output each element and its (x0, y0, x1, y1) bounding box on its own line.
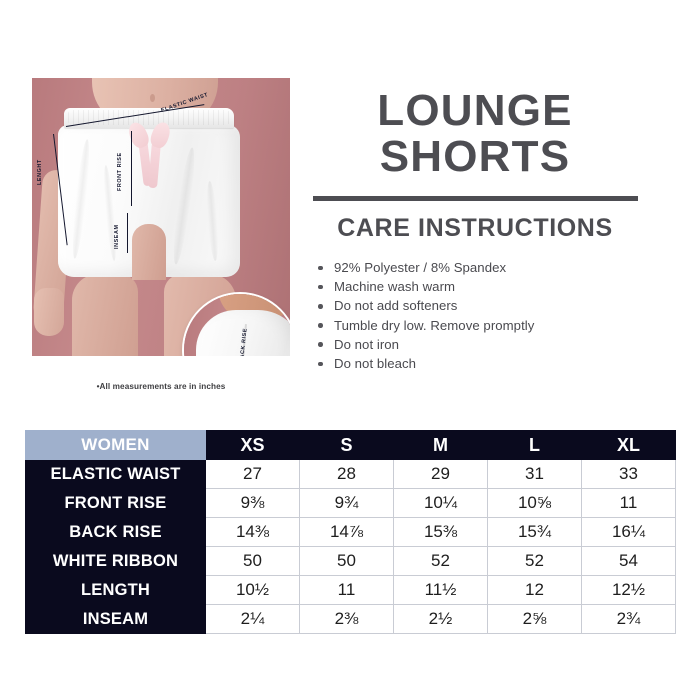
front-rise-measure-line (131, 131, 132, 206)
cell-value: 2¼ (206, 605, 300, 634)
cell-value: 15¾ (488, 518, 582, 547)
cell-value: 11½ (394, 576, 488, 605)
table-corner-label: WOMEN (26, 431, 206, 460)
product-photo: ELASTIC WAIST LENGHT FRONT RISE INSEAM B… (32, 78, 290, 356)
row-label-white-ribbon: WHITE RIBBON (26, 547, 206, 576)
drawstring-bow (130, 122, 174, 184)
cell-value: 52 (488, 547, 582, 576)
label-length: LENGHT (37, 159, 43, 185)
cell-value: 2⅝ (488, 605, 582, 634)
list-item: Machine wash warm (316, 277, 656, 296)
bullet-icon (318, 285, 323, 290)
shorts-garment (58, 108, 240, 283)
care-item-text: Do not add softeners (334, 298, 457, 313)
table-row: BACK RISE 14⅜ 14⅞ 15⅜ 15¾ 16¼ (26, 518, 676, 547)
product-title: LOUNGE SHORTS (310, 88, 640, 180)
label-front-rise: FRONT RISE (117, 152, 123, 191)
column-header-l: L (488, 431, 582, 460)
model-navel (150, 94, 155, 102)
row-label-elastic-waist: ELASTIC WAIST (26, 460, 206, 489)
fabric-fold (70, 139, 92, 259)
bullet-icon (318, 342, 323, 347)
cell-value: 12 (488, 576, 582, 605)
cell-value: 28 (300, 460, 394, 489)
inseam-measure-line (127, 213, 128, 253)
bullet-icon (318, 362, 323, 367)
list-item: Tumble dry low. Remove promptly (316, 316, 656, 335)
cell-value: 16¼ (582, 518, 676, 547)
row-label-length: LENGTH (26, 576, 206, 605)
bullet-icon (318, 304, 323, 309)
cell-value: 52 (394, 547, 488, 576)
title-line-1: LOUNGE (310, 88, 640, 134)
bow-loop (148, 120, 173, 150)
cell-value: 12½ (582, 576, 676, 605)
cell-value: 10½ (206, 576, 300, 605)
care-item-text: Tumble dry low. Remove promptly (334, 318, 534, 333)
measurements-footnote: •All measurements are in inches (32, 382, 290, 391)
table-row: WHITE RIBBON 50 50 52 52 54 (26, 547, 676, 576)
info-panel: ELASTIC WAIST LENGHT FRONT RISE INSEAM B… (0, 0, 700, 410)
row-label-front-rise: FRONT RISE (26, 489, 206, 518)
care-item-text: 92% Polyester / 8% Spandex (334, 260, 506, 275)
column-header-xs: XS (206, 431, 300, 460)
cell-value: 14⅜ (206, 518, 300, 547)
cell-value: 14⅞ (300, 518, 394, 547)
cell-value: 50 (206, 547, 300, 576)
table-header-row: WOMEN XS S M L XL (26, 431, 676, 460)
table-row: ELASTIC WAIST 27 28 29 31 33 (26, 460, 676, 489)
column-header-s: S (300, 431, 394, 460)
column-header-m: M (394, 431, 488, 460)
label-inseam: INSEAM (114, 224, 120, 249)
title-line-2: SHORTS (310, 134, 640, 180)
drawstring-tail (148, 142, 161, 189)
care-item-text: Do not iron (334, 337, 399, 352)
cell-value: 11 (582, 489, 676, 518)
fabric-fold (170, 147, 198, 266)
cell-value: 54 (582, 547, 676, 576)
cell-value: 33 (582, 460, 676, 489)
crotch-gap (132, 224, 166, 280)
model-hand (34, 288, 64, 336)
table-row: LENGTH 10½ 11 11½ 12 12½ (26, 576, 676, 605)
bullet-icon (318, 323, 323, 328)
care-item-text: Machine wash warm (334, 279, 455, 294)
cell-value: 10⅝ (488, 489, 582, 518)
cell-value: 50 (300, 547, 394, 576)
column-header-xl: XL (582, 431, 676, 460)
row-label-inseam: INSEAM (26, 605, 206, 634)
cell-value: 2¾ (582, 605, 676, 634)
care-instructions-heading: CARE INSTRUCTIONS (310, 214, 640, 243)
back-view-inset: BACK RISE (184, 294, 290, 356)
cell-value: 9⅜ (206, 489, 300, 518)
cell-value: 11 (300, 576, 394, 605)
cell-value: 10¼ (394, 489, 488, 518)
list-item: 92% Polyester / 8% Spandex (316, 258, 656, 277)
table-row: INSEAM 2¼ 2⅜ 2½ 2⅝ 2¾ (26, 605, 676, 634)
fabric-fold (205, 181, 220, 261)
cell-value: 9¾ (300, 489, 394, 518)
size-chart-table: WOMEN XS S M L XL ELASTIC WAIST 27 28 29… (25, 430, 676, 634)
cell-value: 27 (206, 460, 300, 489)
cell-value: 2⅜ (300, 605, 394, 634)
model-leg-left (72, 274, 138, 356)
cell-value: 2½ (394, 605, 488, 634)
care-item-text: Do not bleach (334, 356, 416, 371)
cell-value: 29 (394, 460, 488, 489)
row-label-back-rise: BACK RISE (26, 518, 206, 547)
bullet-icon (318, 266, 323, 271)
list-item: Do not bleach (316, 354, 656, 373)
care-instructions-list: 92% Polyester / 8% Spandex Machine wash … (316, 258, 656, 373)
table-row: FRONT RISE 9⅜ 9¾ 10¼ 10⅝ 11 (26, 489, 676, 518)
list-item: Do not add softeners (316, 296, 656, 315)
cell-value: 15⅜ (394, 518, 488, 547)
cell-value: 31 (488, 460, 582, 489)
list-item: Do not iron (316, 335, 656, 354)
title-divider (313, 196, 638, 201)
